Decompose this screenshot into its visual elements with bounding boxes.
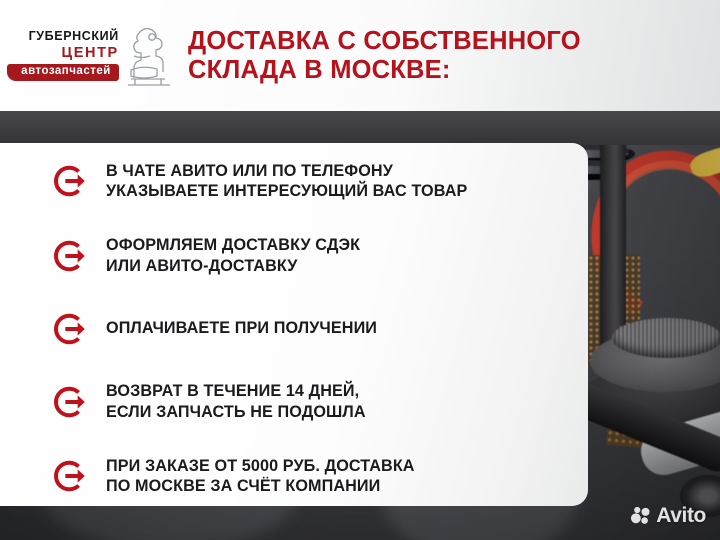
header-divider-band bbox=[0, 111, 720, 145]
step-item-1: В ЧАТЕ АВИТО ИЛИ ПО ТЕЛЕФОНУ УКАЗЫВАЕТЕ … bbox=[52, 161, 572, 202]
logo-line-3: автозапчастей bbox=[7, 64, 119, 81]
arrow-right-circle-icon bbox=[52, 162, 90, 200]
avito-dots-icon bbox=[629, 505, 651, 527]
car-lift-icon bbox=[125, 25, 173, 87]
step-text: ОПЛАЧИВАЕТЕ ПРИ ПОЛУЧЕНИИ bbox=[106, 318, 377, 338]
step-text: ОФОРМЛЯЕМ ДОСТАВКУ СДЭК ИЛИ АВИТО-ДОСТАВ… bbox=[106, 235, 360, 276]
step-item-3: ОПЛАЧИВАЕТЕ ПРИ ПОЛУЧЕНИИ bbox=[52, 310, 572, 348]
step-item-4: ВОЗВРАТ В ТЕЧЕНИЕ 14 ДНЕЙ, ЕСЛИ ЗАПЧАСТЬ… bbox=[52, 381, 572, 422]
delivery-steps-card: В ЧАТЕ АВИТО ИЛИ ПО ТЕЛЕФОНУ УКАЗЫВАЕТЕ … bbox=[0, 143, 588, 506]
header-bar: ГУБЕРНСКИЙ ЦЕНТР автозапчастей ДОСТАВКА … bbox=[0, 0, 720, 111]
logo-line-2: ЦЕНТР bbox=[62, 46, 119, 61]
arrow-right-circle-icon bbox=[52, 237, 90, 275]
arrow-right-circle-icon bbox=[52, 383, 90, 421]
arrow-right-circle-icon bbox=[52, 310, 90, 348]
company-logo[interactable]: ГУБЕРНСКИЙ ЦЕНТР автозапчастей bbox=[0, 0, 180, 111]
step-text: ПРИ ЗАКАЗЕ ОТ 5000 РУБ. ДОСТАВКА ПО МОСК… bbox=[106, 456, 415, 497]
logo-line-1: ГУБЕРНСКИЙ bbox=[29, 30, 119, 43]
step-item-2: ОФОРМЛЯЕМ ДОСТАВКУ СДЭК ИЛИ АВИТО-ДОСТАВ… bbox=[52, 235, 572, 276]
step-item-5: ПРИ ЗАКАЗЕ ОТ 5000 РУБ. ДОСТАВКА ПО МОСК… bbox=[52, 456, 572, 497]
arrow-right-circle-icon bbox=[52, 457, 90, 495]
avito-watermark: Avito bbox=[629, 504, 706, 528]
avito-label: Avito bbox=[656, 504, 706, 528]
step-text: ВОЗВРАТ В ТЕЧЕНИЕ 14 ДНЕЙ, ЕСЛИ ЗАПЧАСТЬ… bbox=[106, 381, 366, 422]
logo-wordmark: ГУБЕРНСКИЙ ЦЕНТР автозапчастей bbox=[7, 30, 119, 81]
step-text: В ЧАТЕ АВИТО ИЛИ ПО ТЕЛЕФОНУ УКАЗЫВАЕТЕ … bbox=[106, 161, 467, 202]
page-title: ДОСТАВКА С СОБСТВЕННОГО СКЛАДА В МОСКВЕ: bbox=[180, 27, 720, 84]
